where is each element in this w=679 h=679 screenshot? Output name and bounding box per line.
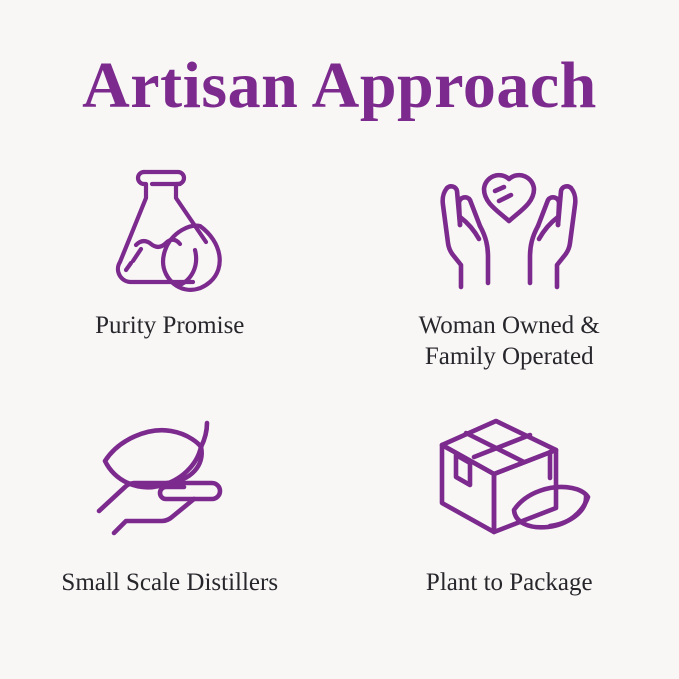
feature-item-woman-owned-family-operated: Woman Owned & Family Operated	[340, 150, 679, 395]
feature-item-small-scale-distillers: Small Scale Distillers	[0, 395, 340, 640]
feature-label: Woman Owned & Family Operated	[419, 310, 600, 372]
artisan-approach-infographic: Artisan Approach	[0, 0, 679, 679]
feature-label: Small Scale Distillers	[61, 567, 278, 598]
feature-label: Plant to Package	[426, 567, 593, 598]
hands-holding-heart-icon	[414, 150, 604, 302]
flask-leaf-icon	[75, 150, 265, 302]
hand-holding-leaf-icon	[75, 395, 265, 545]
feature-label: Purity Promise	[95, 310, 244, 341]
page-title: Artisan Approach	[0, 48, 679, 124]
feature-grid: Purity Promise	[0, 150, 679, 650]
package-box-leaf-icon	[414, 395, 604, 545]
feature-item-purity-promise: Purity Promise	[0, 150, 340, 395]
feature-item-plant-to-package: Plant to Package	[340, 395, 679, 640]
